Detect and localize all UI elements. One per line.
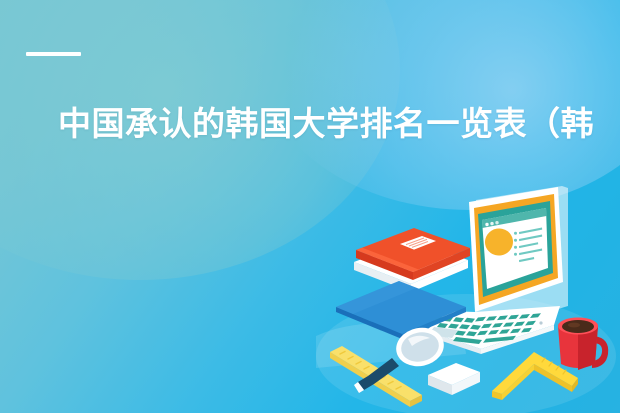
red-book-icon <box>354 228 470 292</box>
coffee-mug-icon <box>558 318 608 371</box>
page-title: 中国承认的韩国大学排名一览表（韩 <box>58 104 620 144</box>
decorative-underline <box>26 52 81 56</box>
banner-image: 中国承认的韩国大学排名一览表（韩 <box>0 0 620 413</box>
study-desk-illustration <box>316 186 620 413</box>
